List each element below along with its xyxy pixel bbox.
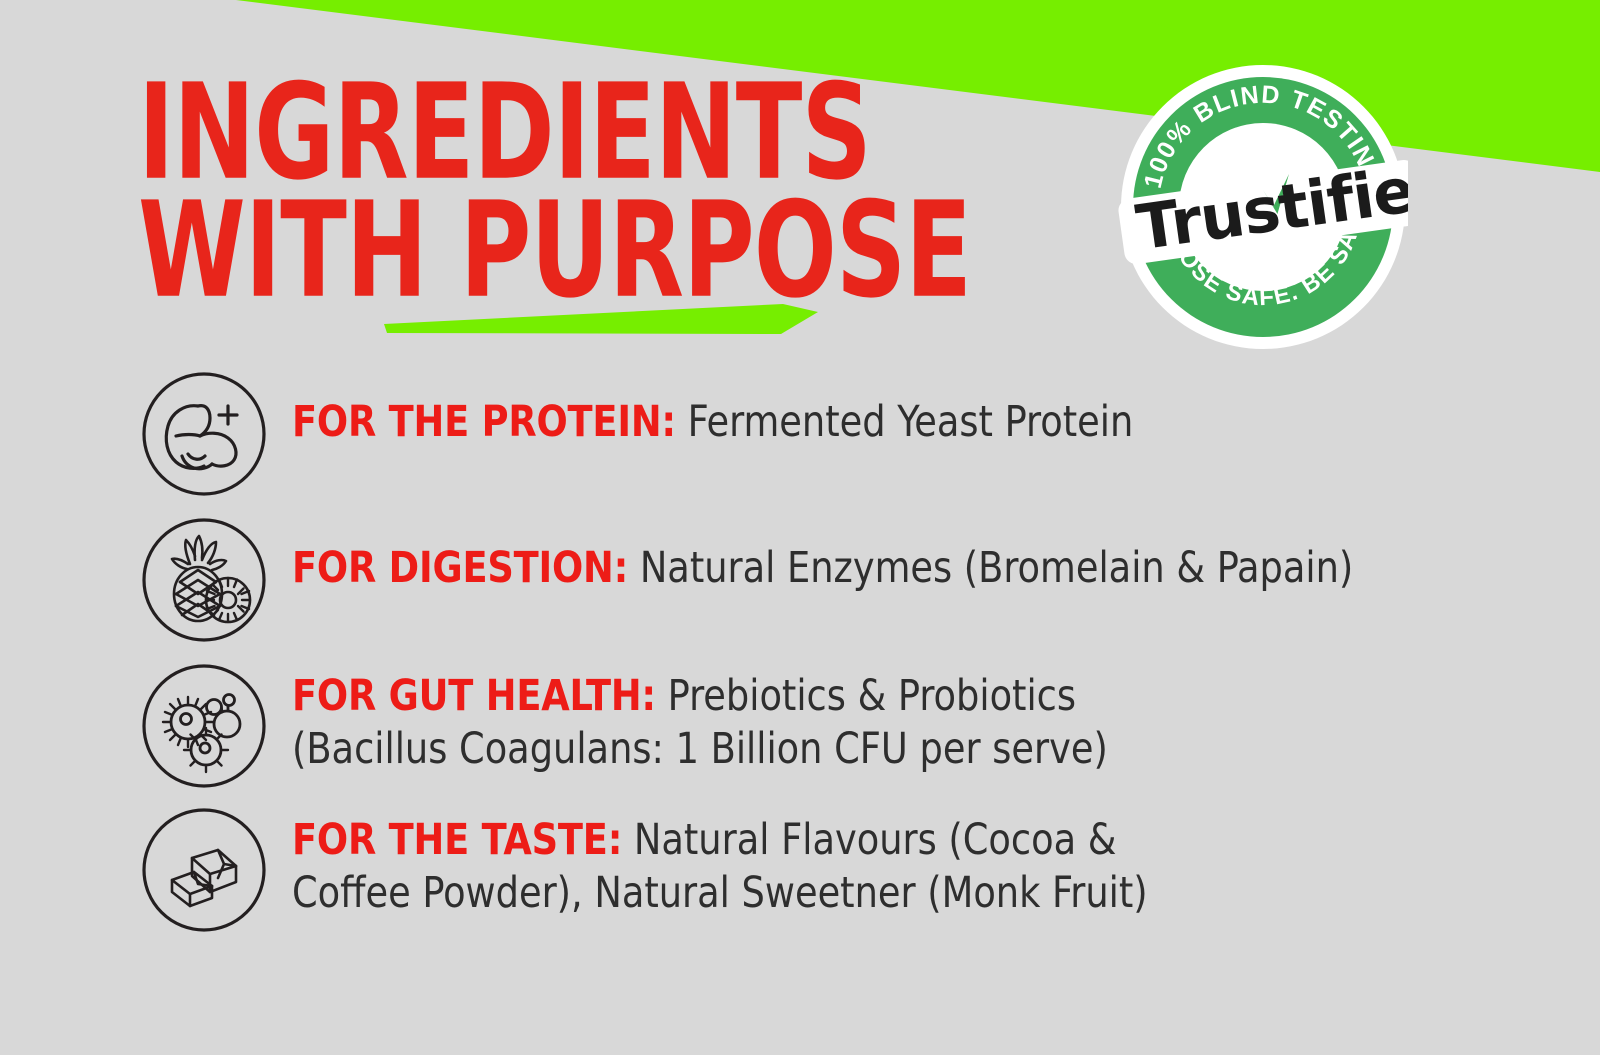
ingredient-label: FOR DIGESTION:	[292, 543, 628, 593]
chocolate-icon	[140, 806, 268, 934]
list-item: FOR THE PROTEIN: Fermented Yeast Protein	[140, 370, 1440, 502]
ingredient-label: FOR THE PROTEIN:	[292, 397, 676, 447]
list-item-text: FOR THE PROTEIN: Fermented Yeast Protein	[292, 370, 1383, 449]
list-item-text: FOR THE TASTE: Natural Flavours (Cocoa &…	[292, 806, 1383, 921]
ingredient-label: FOR GUT HEALTH:	[292, 671, 656, 721]
page-title: INGREDIENTS WITH PURPOSE	[138, 68, 1038, 301]
list-item-text: FOR GUT HEALTH: Prebiotics & Probiotics …	[292, 662, 1383, 777]
bacteria-icon	[140, 662, 268, 790]
ingredient-label: FOR THE TASTE:	[292, 815, 622, 865]
trustified-badge: 100% BLIND TESTING CHOOSE SAFE. BE SAFE …	[1118, 62, 1408, 352]
headline-line-2: WITH PURPOSE	[138, 186, 966, 314]
ingredient-value: Prebiotics & Probiotics	[668, 671, 1076, 721]
ingredient-value: Natural Enzymes (Bromelain & Papain)	[640, 543, 1353, 593]
list-item: FOR GUT HEALTH: Prebiotics & Probiotics …	[140, 662, 1440, 794]
list-item: FOR DIGESTION: Natural Enzymes (Bromelai…	[140, 516, 1440, 648]
list-item-text: FOR DIGESTION: Natural Enzymes (Bromelai…	[292, 516, 1383, 595]
ingredient-value: Fermented Yeast Protein	[688, 397, 1134, 447]
list-item: FOR THE TASTE: Natural Flavours (Cocoa &…	[140, 806, 1440, 938]
muscle-arm-icon	[140, 370, 268, 498]
pineapple-icon	[140, 516, 268, 644]
ingredient-subtext: Coffee Powder), Natural Sweetner (Monk F…	[292, 867, 1383, 920]
ingredient-subtext: (Bacillus Coagulans: 1 Billion CFU per s…	[292, 723, 1383, 776]
ingredient-value: Natural Flavours (Cocoa &	[634, 815, 1117, 865]
ingredients-poster: INGREDIENTS WITH PURPOSE 100% BLIND TEST…	[0, 0, 1600, 1055]
ingredient-list: FOR THE PROTEIN: Fermented Yeast Protein	[140, 370, 1440, 952]
